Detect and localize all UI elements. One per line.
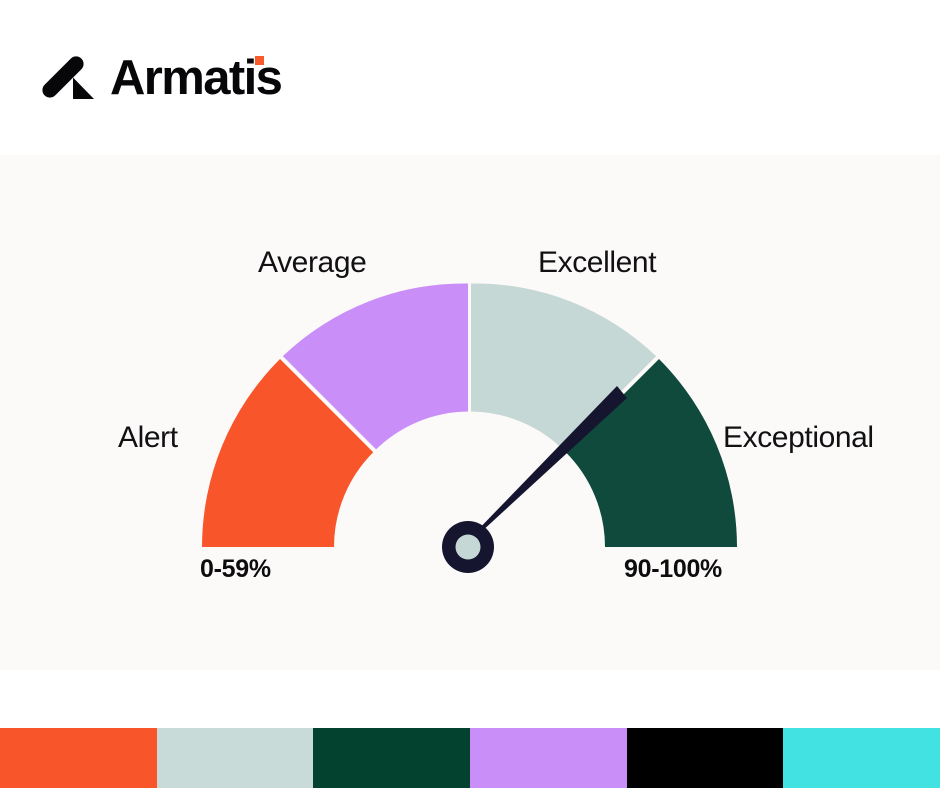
gauge-range-exceptional: 90-100% (624, 557, 722, 582)
armatis-logo[interactable]: Armatis (40, 52, 281, 104)
palette-swatch (0, 728, 157, 788)
armatis-accent-dot (255, 56, 264, 65)
gauge-svg (0, 155, 940, 670)
header-bar: Armatis (0, 0, 940, 155)
gauge-needle-hub-center (456, 535, 481, 560)
gauge-label-exceptional: Exceptional (723, 423, 874, 453)
gauge-label-average: Average (258, 248, 366, 278)
page-root: Armatis (0, 0, 940, 788)
palette-swatch (313, 728, 470, 788)
gauge-chart: Alert Average Excellent Exceptional 0-59… (0, 155, 940, 670)
palette-swatch (157, 728, 314, 788)
armatis-wordmark: Armatis (110, 54, 281, 103)
gauge-label-alert: Alert (118, 423, 178, 453)
palette-swatch (470, 728, 627, 788)
gauge-label-excellent: Excellent (538, 248, 656, 278)
armatis-slash-triangle-icon (40, 52, 96, 104)
gauge-range-alert: 0-59% (200, 557, 271, 582)
gauge-panel: Alert Average Excellent Exceptional 0-59… (0, 155, 940, 670)
palette-swatch (627, 728, 784, 788)
palette-swatch (783, 728, 940, 788)
palette-swatch-bar (0, 728, 940, 788)
